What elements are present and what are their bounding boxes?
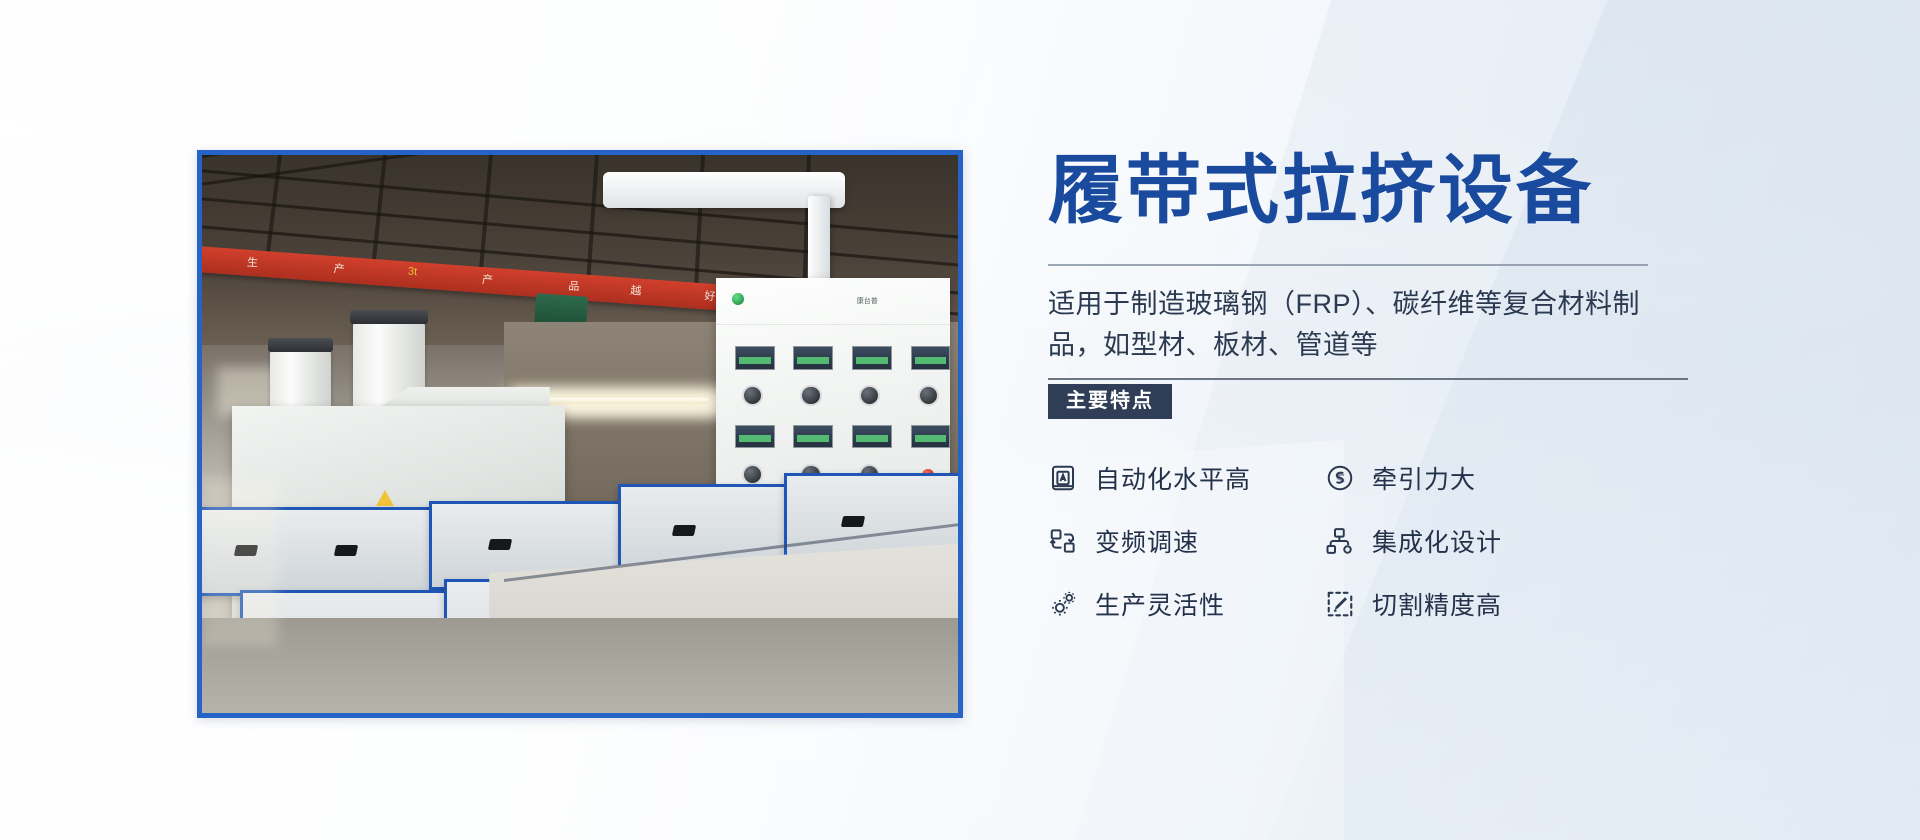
feature-list: 自动化水平高 牵引力大 (1048, 460, 1688, 622)
status-badge: 主要特点 (1048, 384, 1172, 419)
badge-divider (1048, 378, 1688, 380)
feature-item-cutting[interactable]: 切割精度高 (1325, 586, 1602, 622)
product-banner: 生 产 3t 产 品 越 好 (0, 0, 1920, 840)
banner-content: 履带式拉挤设备 适用于制造玻璃钢（FRP）、碳纤维等复合材料制品，如型材、板材、… (1048, 150, 1688, 622)
feature-label: 切割精度高 (1372, 586, 1502, 622)
page-title: 履带式拉挤设备 (1048, 150, 1688, 231)
feature-label: 变频调速 (1095, 523, 1199, 559)
badge-row: 主要特点 (1048, 384, 1688, 420)
feature-label: 牵引力大 (1372, 460, 1476, 496)
photo-inner: 生 产 3t 产 品 越 好 (202, 155, 958, 713)
feature-item-traction[interactable]: 牵引力大 (1325, 460, 1602, 496)
feature-label: 自动化水平高 (1095, 460, 1251, 496)
integrated-design-icon (1325, 526, 1355, 556)
feature-label: 集成化设计 (1372, 523, 1502, 559)
feature-item-flexibility[interactable]: 生产灵活性 (1048, 586, 1325, 622)
product-photo[interactable]: 生 产 3t 产 品 越 好 (197, 150, 963, 718)
automation-square-a-icon (1048, 463, 1078, 493)
feature-item-integrated[interactable]: 集成化设计 (1325, 523, 1602, 559)
feature-label: 生产灵活性 (1095, 586, 1225, 622)
frequency-conversion-icon (1048, 526, 1078, 556)
gears-flexibility-icon (1048, 589, 1078, 619)
cutting-precision-pen-icon (1325, 589, 1355, 619)
traction-wave-circle-icon (1325, 463, 1355, 493)
feature-item-automation[interactable]: 自动化水平高 (1048, 460, 1325, 496)
subtitle: 适用于制造玻璃钢（FRP）、碳纤维等复合材料制品，如型材、板材、管道等 (1048, 284, 1658, 366)
title-divider (1048, 264, 1648, 266)
feature-item-frequency[interactable]: 变频调速 (1048, 523, 1325, 559)
